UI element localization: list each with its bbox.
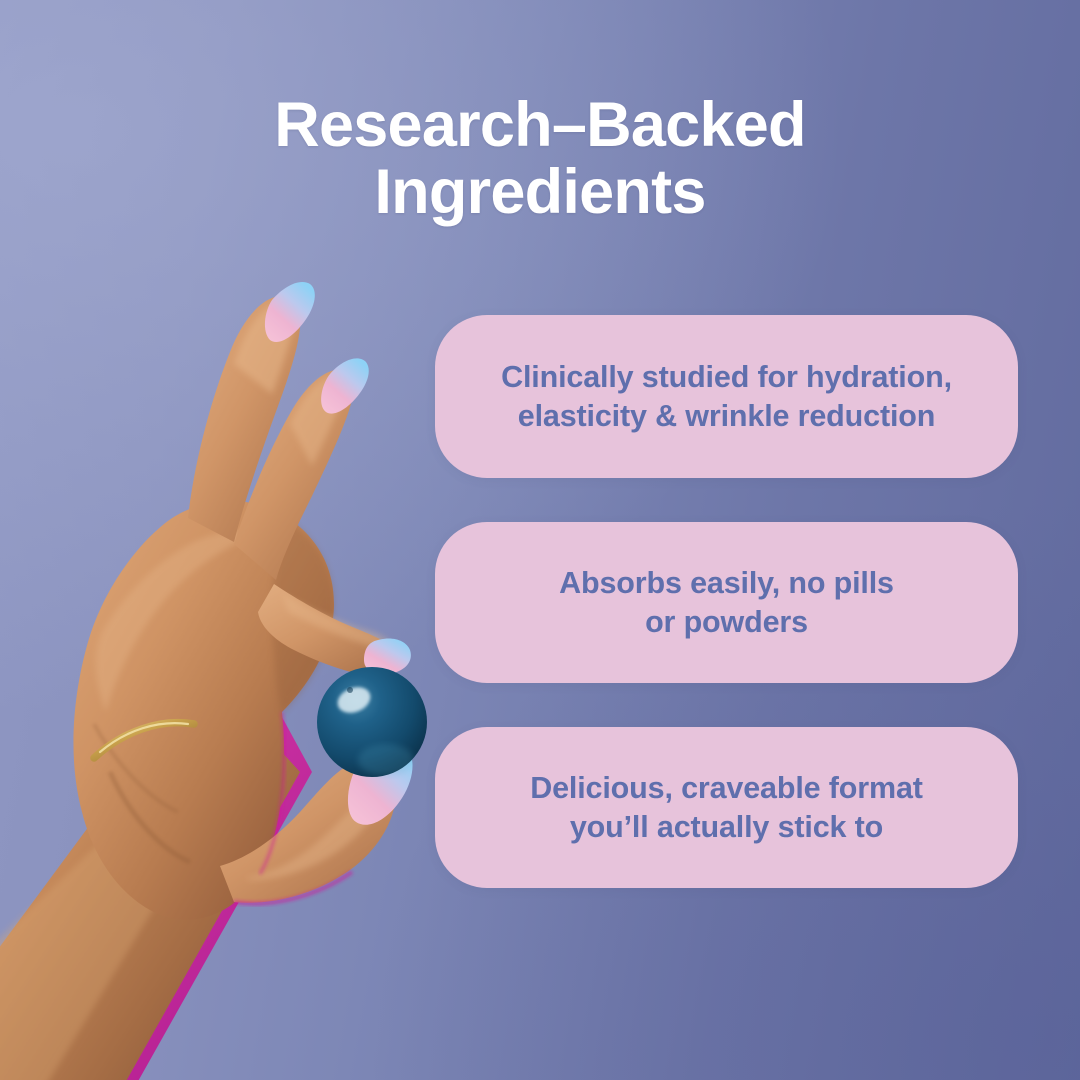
nail-index — [265, 282, 315, 342]
benefit-card-clinically-studied[interactable]: Clinically studied for hydration, elasti… — [435, 315, 1018, 478]
supplement-sphere — [317, 667, 427, 777]
hero-photo-hand — [0, 212, 452, 1080]
benefit-card-craveable-format[interactable]: Delicious, craveable format you’ll actua… — [435, 727, 1018, 888]
benefit-card-absorbs-easily[interactable]: Absorbs easily, no pills or powders — [435, 522, 1018, 683]
page-title: Research–Backed Ingredients — [0, 92, 1080, 226]
benefit-card-text: Delicious, craveable format you’ll actua… — [530, 769, 923, 846]
nail-middle — [321, 358, 369, 413]
benefits-card-list: Clinically studied for hydration, elasti… — [435, 315, 1018, 888]
marketing-graphic: Research–Backed Ingredients — [0, 0, 1080, 1080]
benefit-card-text: Absorbs easily, no pills or powders — [559, 564, 894, 641]
benefit-card-text: Clinically studied for hydration, elasti… — [501, 358, 952, 435]
